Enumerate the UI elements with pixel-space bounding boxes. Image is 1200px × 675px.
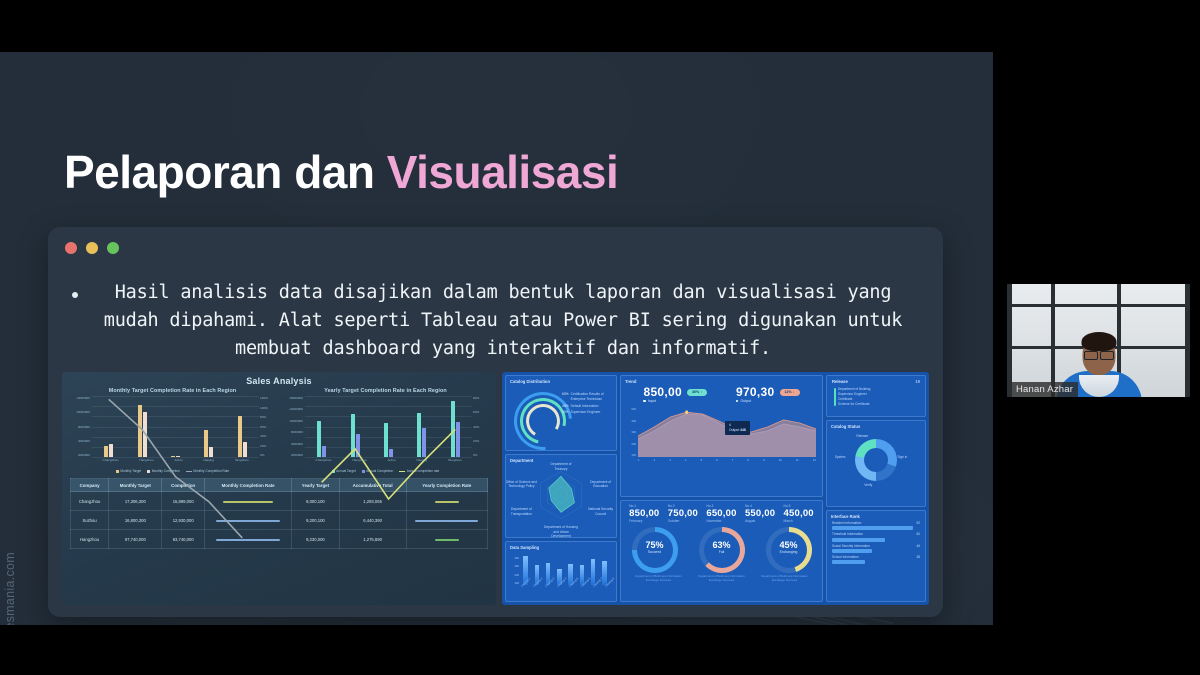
webcam-panel[interactable]: Hanan Azhar	[997, 255, 1200, 423]
tooltip-label: Output	[729, 428, 739, 432]
y-axis-labels: 1600000012000000100000008000000400000020…	[283, 396, 303, 457]
data-sampling-panel: Data Sampling 400300200100 Catalog 1Cata…	[505, 541, 617, 602]
bi-column-left: Catalog Distribution 60%Certification Re…	[505, 375, 617, 602]
data-sampling-title: Data Sampling	[506, 542, 616, 550]
title-accent: Visualisasi	[387, 146, 619, 198]
rank-item: Threshold Information60	[832, 532, 920, 541]
data-sampling-y-axis: 400300200100	[508, 556, 519, 585]
sales-analysis-title: Sales Analysis	[62, 376, 496, 386]
release-panel: Release 19 Department of BuildingSupervi…	[826, 375, 926, 417]
x-axis-labels: ChangzhouHangzhouAnhuiNanjingTangshan	[305, 458, 472, 468]
catalog-status-title: Catalog Status	[827, 421, 925, 429]
top-value-item: No.1850,00February	[629, 504, 659, 523]
bi-column-right: Release 19 Department of BuildingSupervi…	[826, 375, 926, 602]
top-value-item: No.3650,00November	[706, 504, 736, 523]
x-axis-labels: ChangzhouHangzhouAnhuiNanjingTangshan	[92, 458, 259, 468]
title-main: Pelaporan dan	[64, 146, 387, 198]
catalog-distribution-legend: 60%Certification Results of Enterprise T…	[562, 392, 613, 417]
close-icon[interactable]	[65, 242, 77, 254]
trend-kpis: 850,0030% ↑Input970,3012% ↓Output	[621, 384, 822, 403]
y-axis-labels: 1400000010000000800000040000002000000	[70, 396, 90, 457]
webcam-video	[1007, 284, 1190, 397]
trend-x-axis: 123456789101112	[638, 458, 816, 467]
dashboard-screenshots: Sales Analysis Monthly Target Completion…	[62, 372, 929, 605]
rank-item: Social Security Information46	[832, 544, 920, 553]
radar-polygon	[533, 467, 589, 523]
yearly-chart-title: Yearly Target Completion Rate in Each Re…	[283, 388, 488, 394]
window-controls[interactable]	[65, 242, 119, 254]
department-panel: Department Department of TreasuryDepartm…	[505, 454, 617, 538]
bullet-paragraph: Hasil analisis data disajikan dalam bent…	[72, 279, 919, 363]
status-gauges: 75%Succeed63%Fail45%Exchanging	[621, 527, 822, 573]
catalog-distribution-panel: Catalog Distribution 60%Certification Re…	[505, 375, 617, 451]
top-value-item: No.4550,00August	[745, 504, 775, 523]
yearly-chart-plot: 1600000012000000100000008000000400000020…	[283, 396, 488, 468]
yearly-chart: Yearly Target Completion Rate in Each Re…	[283, 388, 488, 473]
browser-window-card: Hasil analisis data disajikan dalam bent…	[48, 227, 943, 617]
gauge: 75%Succeed	[632, 527, 678, 573]
catalog-status-label: Verify	[864, 483, 872, 487]
monthly-chart: Monthly Target Completion Rate in Each R…	[70, 388, 275, 473]
catalog-status-label: Release	[856, 434, 868, 438]
bi-dashboard: Catalog Distribution 60%Certification Re…	[502, 372, 929, 605]
trend-panel: Trend 850,0030% ↑Input970,3012% ↓Output …	[620, 375, 823, 497]
screen: slidesmania.com Pelaporan dan Visualisas…	[0, 0, 1200, 675]
release-items: Department of BuildingSupervisor Enginee…	[832, 384, 920, 410]
interface-rank-list: Resident Information92Threshold Informat…	[827, 519, 925, 564]
bullet-text: Hasil analisis data disajikan dalam bent…	[87, 279, 919, 363]
top-values-panel: No.1850,00FebruaryNo.2750,00OctoberNo.36…	[620, 500, 823, 602]
top-value-item: No.2750,00October	[668, 504, 698, 523]
data-sampling-x-axis: Catalog 1Catalog 2Catalog 3Catalog 4Cata…	[520, 585, 610, 600]
department-radar-chart: Department of TreasuryDepartment of Educ…	[506, 463, 616, 538]
catalog-status-label: System	[835, 455, 846, 459]
gauge: 63%Fail	[699, 527, 745, 573]
top-values-row: No.1850,00FebruaryNo.2750,00OctoberNo.36…	[621, 501, 822, 523]
trend-tooltip: 4 Output 448	[725, 421, 750, 435]
catalog-distribution-title: Catalog Distribution	[506, 376, 616, 384]
interface-rank-panel: Interface Rank Resident Information92Thr…	[826, 510, 926, 602]
page-title: Pelaporan dan Visualisasi	[64, 147, 618, 198]
monthly-chart-plot: 1400000010000000800000040000002000000 12…	[70, 396, 275, 468]
slidesmania-watermark: slidesmania.com	[3, 552, 17, 625]
trend-area-chart: 500400300200100 123456789101112 4 Output…	[627, 405, 816, 467]
sales-analysis-dashboard: Sales Analysis Monthly Target Completion…	[62, 372, 496, 605]
bullet-point-icon	[72, 292, 78, 298]
trend-kpi: 850,0030% ↑Input	[643, 385, 707, 403]
secondary-y-axis-labels: 80%60%40%20%0%	[473, 396, 488, 457]
top-value-item: No.5450,00March	[784, 504, 814, 523]
interface-rank-title: Interface Rank	[827, 511, 925, 519]
rank-item: School Information38	[832, 555, 920, 564]
catalog-status-label: Sign in	[898, 455, 908, 459]
rank-item: Resident Information92	[832, 521, 920, 530]
catalog-status-donut: ReleaseSign inSystemVerify	[827, 429, 925, 497]
catalog-status-panel: Catalog Status ReleaseSign inSystemVerif…	[826, 420, 926, 507]
glasses-icon	[1084, 351, 1114, 358]
person-hair	[1081, 332, 1116, 351]
participant-name-label: Hanan Azhar	[1011, 382, 1078, 397]
gauge-notes: Department of Build app Information Exch…	[621, 574, 822, 583]
bi-column-center: Trend 850,0030% ↑Input970,3012% ↓Output …	[620, 375, 823, 602]
rate-line	[92, 396, 259, 563]
trend-title: Trend	[621, 376, 822, 384]
rate-line	[305, 396, 472, 563]
trend-y-axis: 500400300200100	[627, 407, 636, 457]
secondary-y-axis-labels: 120%100%80%60%40%20%0%	[260, 396, 275, 457]
maximize-icon[interactable]	[107, 242, 119, 254]
concentric-arcs	[514, 392, 566, 444]
monthly-chart-title: Monthly Target Completion Rate in Each R…	[70, 388, 275, 394]
minimize-icon[interactable]	[86, 242, 98, 254]
presentation-slide: slidesmania.com Pelaporan dan Visualisas…	[0, 52, 993, 625]
trend-kpi: 970,3012% ↓Output	[736, 385, 800, 403]
gauge: 45%Exchanging	[766, 527, 812, 573]
tooltip-value: 448	[740, 428, 746, 432]
